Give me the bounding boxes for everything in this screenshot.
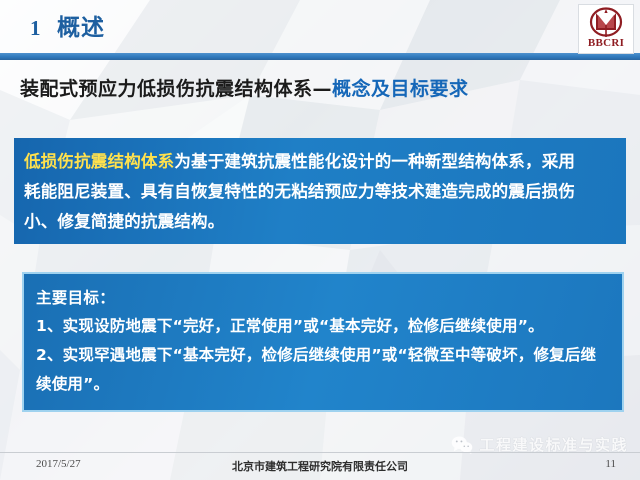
section-number: 1: [30, 16, 41, 41]
bbcri-logo: BBCRI: [578, 4, 634, 54]
page-title-accent: 概念及目标要求: [332, 78, 469, 100]
header-divider-bar: [0, 53, 640, 60]
goals-heading: 主要目标：: [36, 284, 610, 312]
definition-panel: 低损伤抗震结构体系为基于建筑抗震性能化设计的一种新型结构体系，采用 耗能阻尼装置…: [14, 138, 626, 244]
footer-organization: 北京市建筑工程研究院有限责任公司: [0, 458, 640, 474]
footer-divider: [0, 452, 640, 453]
slide-canvas: 1 概述 BBCRI 装配式预应力低损伤抗震结构体系—概念及目标要求 低损伤抗震…: [0, 0, 640, 480]
bbcri-emblem-icon: [589, 7, 623, 37]
slide-header: 1 概述: [0, 0, 640, 56]
goals-item-2: 2、实现罕遇地震下“基本完好，检修后继续使用”或“轻微至中等破坏，修复后继续使用…: [36, 341, 610, 399]
definition-line-1: 低损伤抗震结构体系为基于建筑抗震性能化设计的一种新型结构体系，采用: [24, 147, 616, 177]
page-title: 装配式预应力低损伤抗震结构体系—概念及目标要求: [20, 74, 469, 101]
section-title-row: 1 概述: [30, 8, 105, 42]
definition-term: 低损伤抗震结构体系: [24, 152, 174, 171]
definition-line-2: 耗能阻尼装置、具有自恢复特性的无粘结预应力等技术建造完成的震后损伤: [24, 177, 616, 207]
footer-page-number: 11: [605, 458, 616, 470]
section-title: 概述: [57, 8, 105, 42]
goals-panel: 主要目标： 1、实现设防地震下“完好，正常使用”或“基本完好，检修后继续使用”。…: [22, 272, 624, 412]
page-title-plain: 装配式预应力低损伤抗震结构体系—: [20, 78, 332, 100]
logo-wordmark: BBCRI: [588, 37, 624, 49]
goals-item-1: 1、实现设防地震下“完好，正常使用”或“基本完好，检修后继续使用”。: [36, 312, 610, 341]
definition-line-1-rest: 为基于建筑抗震性能化设计的一种新型结构体系，采用: [174, 152, 575, 171]
definition-line-3: 小、修复简捷的抗震结构。: [24, 207, 616, 237]
